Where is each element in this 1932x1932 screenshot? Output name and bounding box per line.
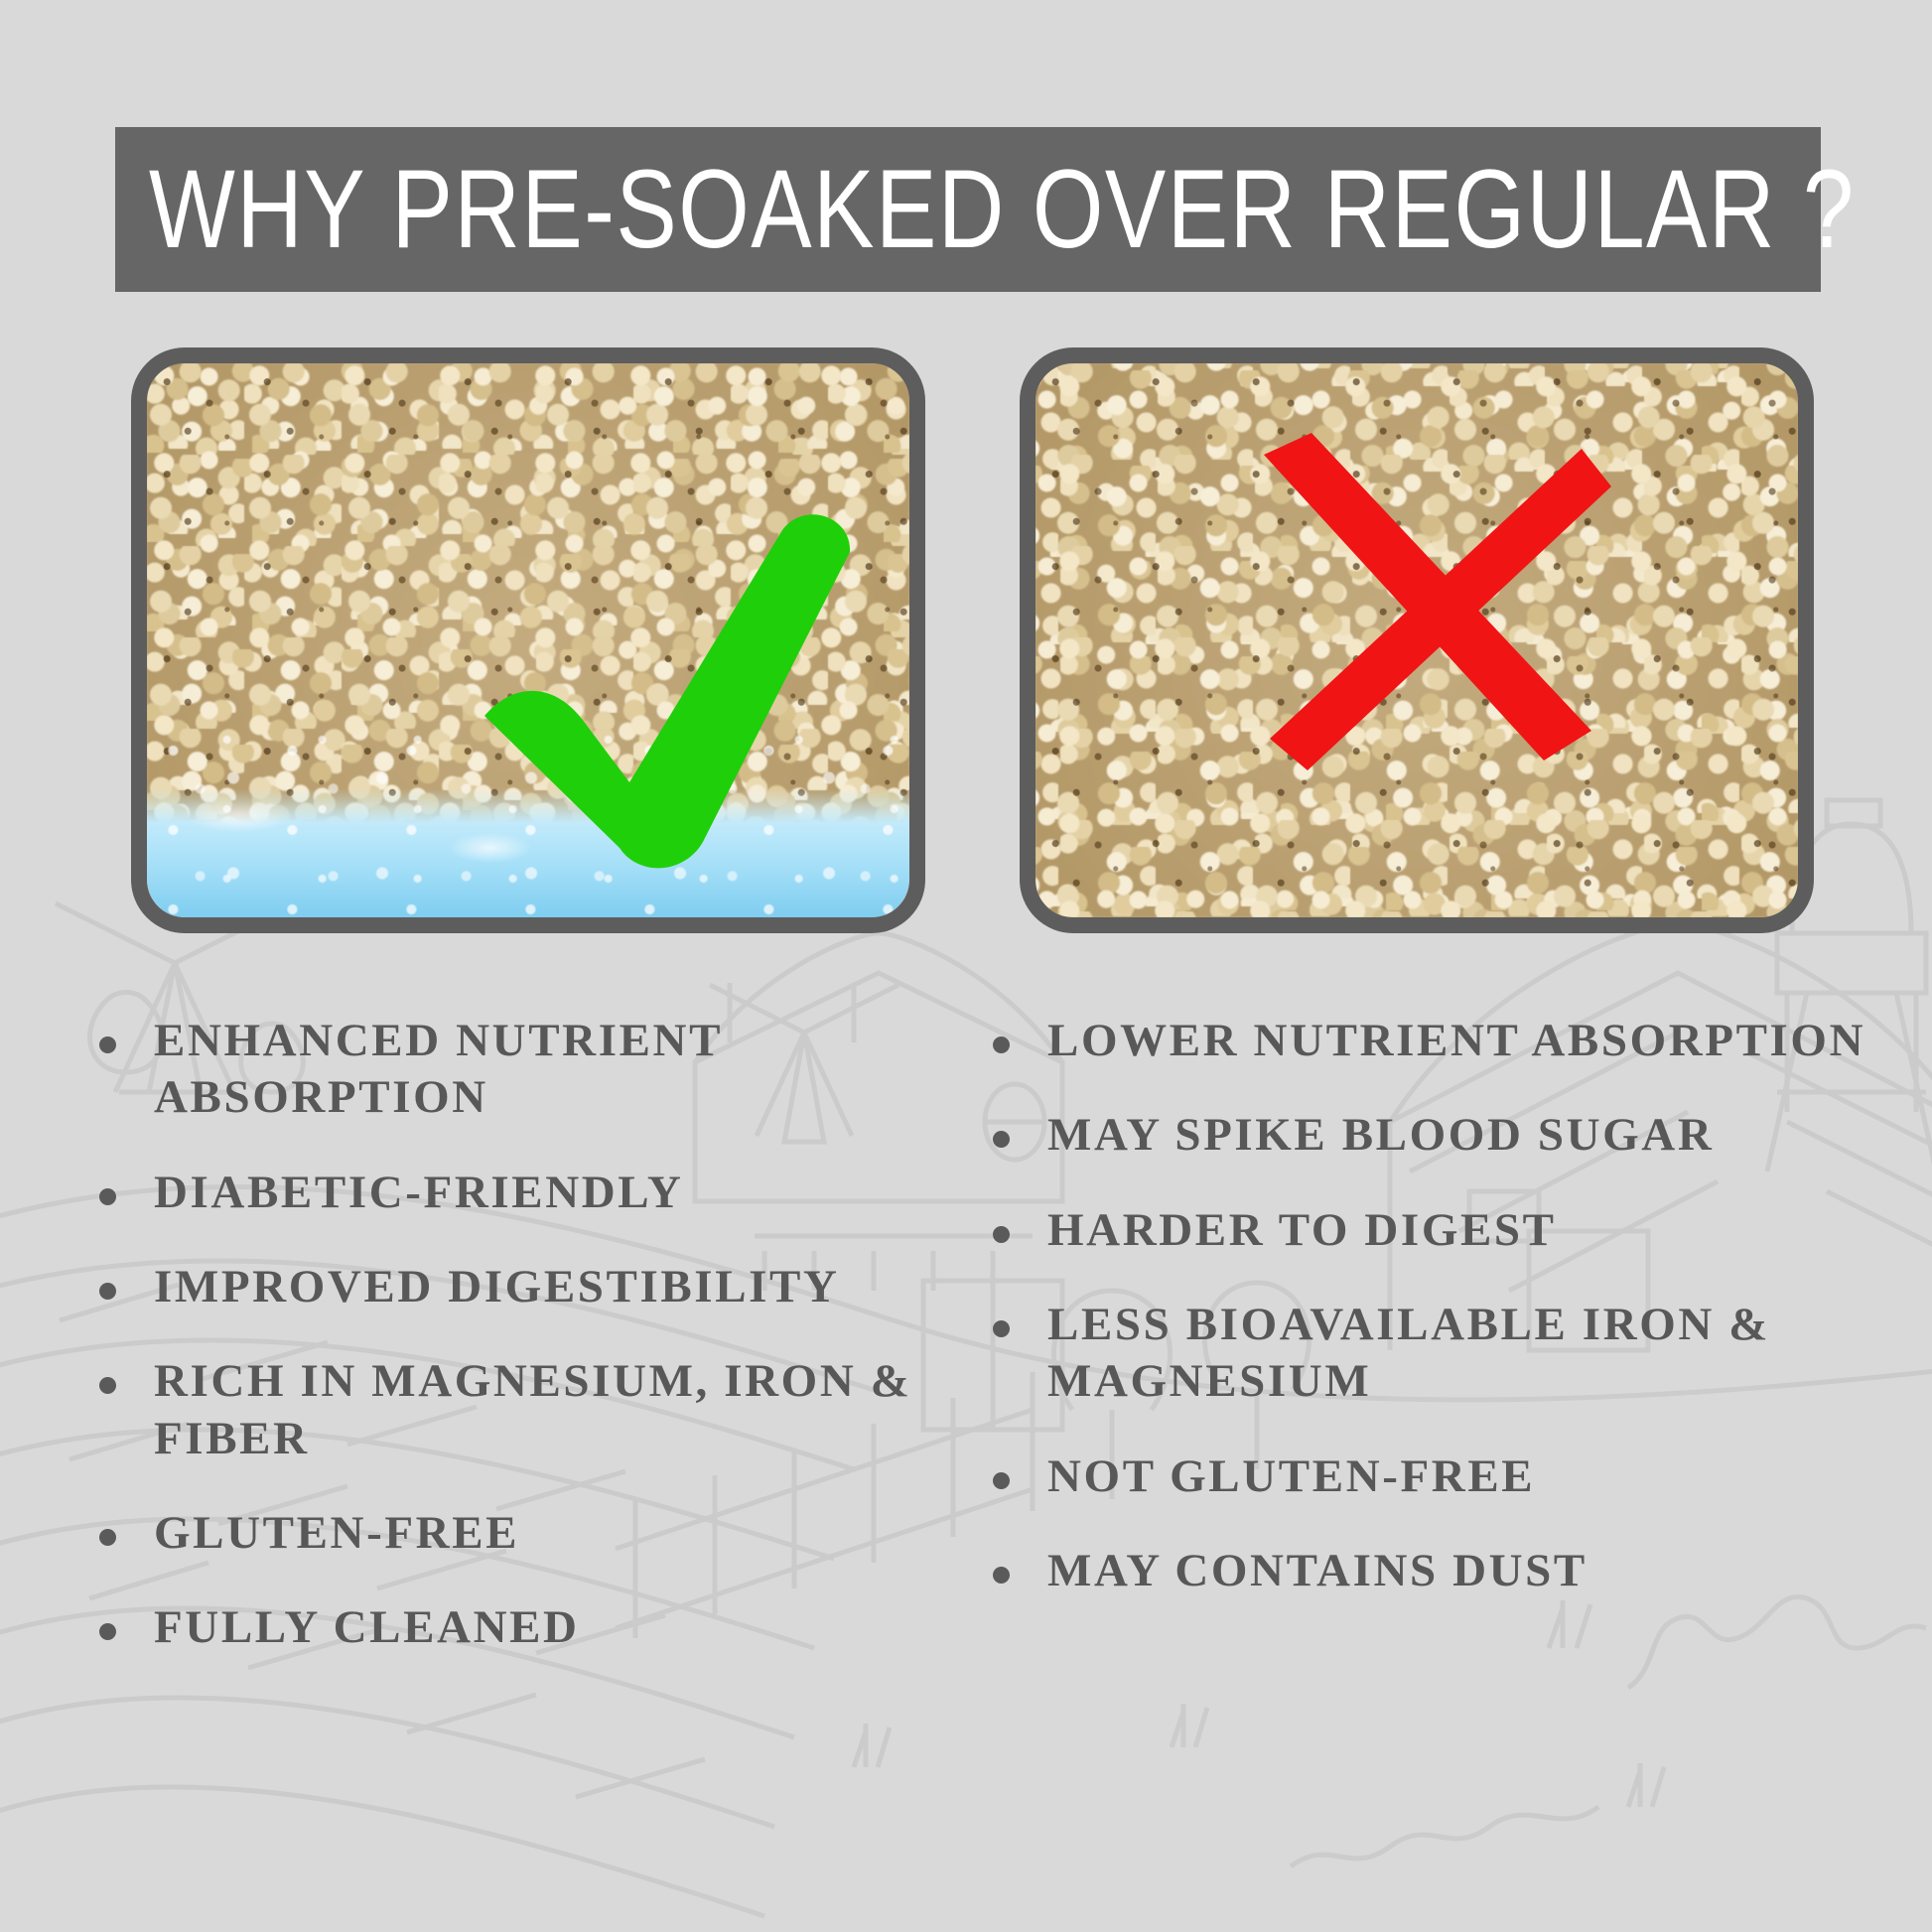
list-item: LOWER NUTRIENT ABSORPTION [993, 1013, 1932, 1069]
list-item: LESS BIOAVAILABLE IRON & MAGNESIUM [993, 1297, 1932, 1411]
bullet-dot-icon [993, 1567, 1010, 1584]
regular-quinoa-card [1020, 347, 1814, 933]
infographic-canvas: WHY PRE-SOAKED OVER REGULAR ? [0, 0, 1932, 1932]
bullet-dot-icon [993, 1131, 1010, 1148]
pros-item-label: RICH IN MAGNESIUM, IRON & FIBER [154, 1353, 973, 1467]
list-item: RICH IN MAGNESIUM, IRON & FIBER [99, 1353, 973, 1467]
pre-soaked-quinoa-card [131, 347, 925, 933]
cons-item-label: HARDER TO DIGEST [1047, 1202, 1557, 1259]
list-item: IMPROVED DIGESTIBILITY [99, 1259, 973, 1315]
list-item: DIABETIC-FRIENDLY [99, 1165, 973, 1221]
cons-item-label: LOWER NUTRIENT ABSORPTION [1047, 1013, 1865, 1069]
header-banner: WHY PRE-SOAKED OVER REGULAR ? [115, 127, 1821, 292]
list-item: ENHANCED NUTRIENT ABSORPTION [99, 1013, 973, 1127]
bullet-dot-icon [99, 1188, 116, 1205]
bullet-dot-icon [993, 1036, 1010, 1053]
list-item: HARDER TO DIGEST [993, 1202, 1932, 1259]
cons-item-label: MAY CONTAINS DUST [1047, 1543, 1587, 1599]
pros-item-label: IMPROVED DIGESTIBILITY [154, 1259, 840, 1315]
water-bubbles [147, 719, 909, 917]
bullet-dot-icon [99, 1529, 116, 1546]
pros-item-label: DIABETIC-FRIENDLY [154, 1165, 683, 1221]
bullet-dot-icon [99, 1623, 116, 1640]
pros-item-label: GLUTEN-FREE [154, 1505, 519, 1562]
cons-list: LOWER NUTRIENT ABSORPTION MAY SPIKE BLOO… [993, 1013, 1932, 1637]
bullet-dot-icon [993, 1320, 1010, 1337]
cons-item-label: MAY SPIKE BLOOD SUGAR [1047, 1107, 1714, 1164]
cons-item-label: LESS BIOAVAILABLE IRON & MAGNESIUM [1047, 1297, 1932, 1411]
pros-item-label: ENHANCED NUTRIENT ABSORPTION [154, 1013, 973, 1127]
bullet-dot-icon [99, 1377, 116, 1394]
bullet-dot-icon [993, 1226, 1010, 1243]
pros-item-label: FULLY CLEANED [154, 1599, 580, 1656]
list-item: FULLY CLEANED [99, 1599, 973, 1656]
list-item: MAY SPIKE BLOOD SUGAR [993, 1107, 1932, 1164]
cons-item-label: NOT GLUTEN-FREE [1047, 1449, 1535, 1505]
page-title: WHY PRE-SOAKED OVER REGULAR ? [115, 154, 1856, 265]
bullet-dot-icon [99, 1283, 116, 1300]
pros-list: ENHANCED NUTRIENT ABSORPTION DIABETIC-FR… [99, 1013, 973, 1695]
list-item: MAY CONTAINS DUST [993, 1543, 1932, 1599]
quinoa-grain-specks [1035, 363, 1798, 917]
list-item: NOT GLUTEN-FREE [993, 1449, 1932, 1505]
comparison-cards [0, 347, 1932, 943]
bullet-dot-icon [993, 1472, 1010, 1489]
list-item: GLUTEN-FREE [99, 1505, 973, 1562]
bullet-dot-icon [99, 1036, 116, 1053]
